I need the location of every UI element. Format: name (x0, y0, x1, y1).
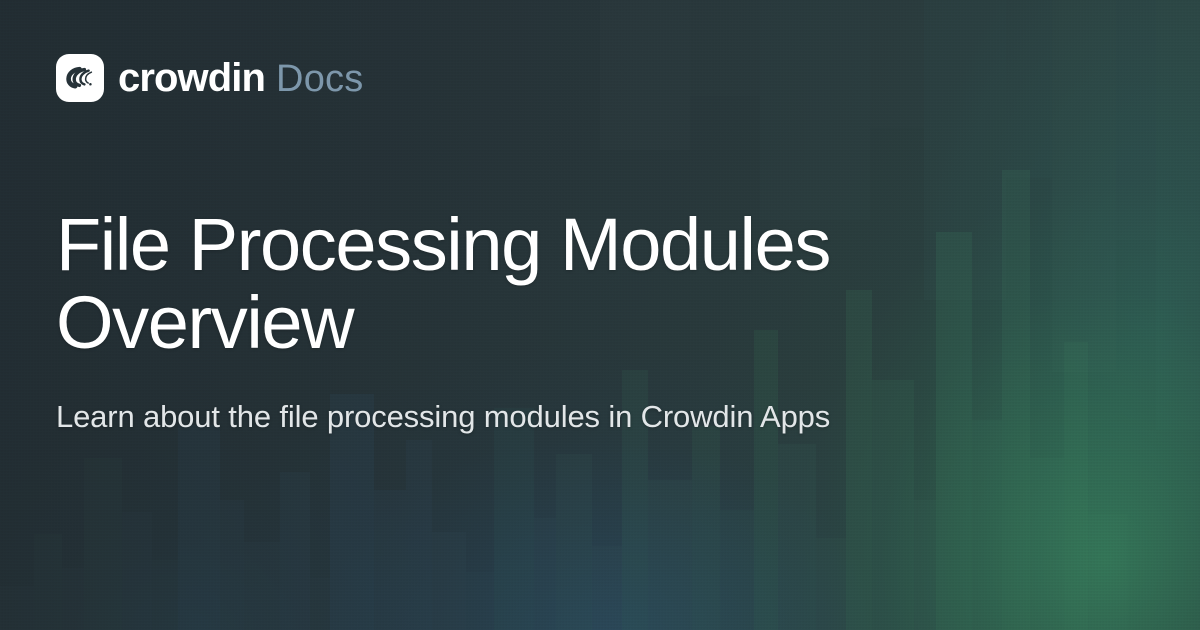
page-title: File Processing Modules Overview (56, 206, 936, 363)
page-subtitle: Learn about the file processing modules … (56, 397, 1016, 437)
brand-lockup[interactable]: crowdin Docs (56, 54, 363, 102)
brand-name: crowdin (118, 58, 265, 98)
brand-section-label: Docs (276, 60, 363, 98)
headline-block: File Processing Modules Overview Learn a… (56, 206, 1016, 437)
og-preview-card: crowdin Docs File Processing Modules Ove… (0, 0, 1200, 630)
card-content: crowdin Docs File Processing Modules Ove… (0, 0, 1200, 630)
crowdin-swirl-icon (56, 54, 104, 102)
brand-wordmark: crowdin Docs (118, 58, 363, 98)
